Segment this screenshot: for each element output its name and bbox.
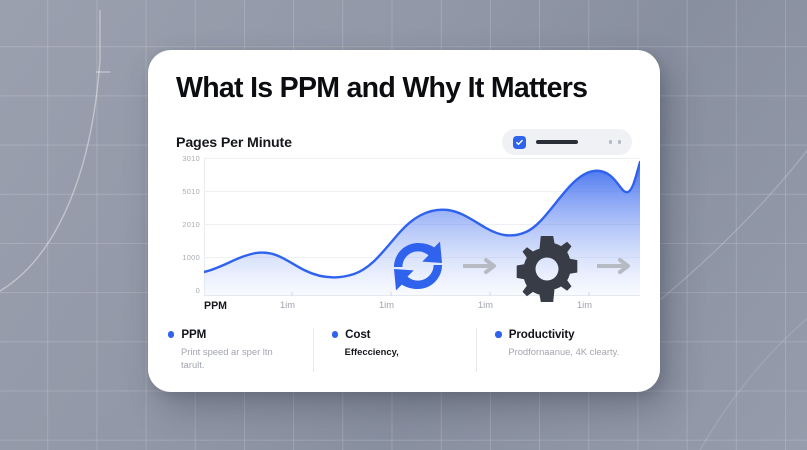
legend-description: Prodfornaanue, 4K clearty. — [508, 346, 626, 359]
x-tick-label: 1im — [280, 300, 295, 310]
chart-x-axis: PPM 1im 1im 1im 1im — [204, 300, 640, 318]
legend-dot-icon — [332, 331, 338, 337]
chart-legend: PPM Print speed ar sper ltn tarult. Cost… — [168, 328, 640, 372]
x-tick-label: PPM — [204, 300, 227, 312]
arrow-right-icon — [463, 258, 497, 274]
legend-head: Productivity — [495, 328, 626, 341]
legend-item-ppm[interactable]: PPM Print speed ar sper ltn tarult. — [168, 328, 313, 372]
chart-subtitle: Pages Per Minute — [176, 135, 292, 151]
legend-description: Print speed ar sper ltn tarult. — [181, 346, 299, 372]
check-badge-icon — [513, 136, 526, 149]
y-tick-label: 0 — [196, 286, 200, 295]
x-tick-label: 1im — [478, 300, 493, 310]
more-dots-icon[interactable] — [609, 140, 621, 143]
legend-title: Cost — [345, 328, 370, 341]
redacted-text-bar — [536, 140, 578, 143]
status-badge[interactable] — [502, 129, 632, 155]
legend-dot-icon — [168, 331, 174, 337]
legend-item-productivity[interactable]: Productivity Prodfornaanue, 4K clearty. — [476, 328, 640, 372]
x-tick-label: 1im — [379, 300, 394, 310]
refresh-icon — [386, 235, 450, 297]
y-tick-label: 3010 — [182, 154, 200, 163]
page-title: What Is PPM and Why It Matters — [176, 72, 587, 105]
y-tick-label: 1000 — [182, 253, 200, 262]
y-tick-label: 5010 — [182, 187, 200, 196]
arrow-right-icon — [597, 258, 631, 274]
page-background: What Is PPM and Why It Matters Pages Per… — [0, 0, 807, 450]
chart-y-axis: 3010 5010 2010 1000 0 — [168, 158, 200, 296]
y-tick-label: 2010 — [182, 220, 200, 229]
legend-dot-icon — [495, 331, 501, 337]
legend-description: Effecciency, — [345, 346, 463, 359]
legend-title: Productivity — [509, 328, 575, 341]
legend-head: Cost — [332, 328, 463, 341]
legend-item-cost[interactable]: Cost Effecciency, — [313, 328, 477, 372]
legend-title: PPM — [181, 328, 206, 341]
content-card: What Is PPM and Why It Matters Pages Per… — [148, 50, 660, 392]
legend-head: PPM — [168, 328, 299, 341]
gear-icon — [514, 236, 580, 302]
